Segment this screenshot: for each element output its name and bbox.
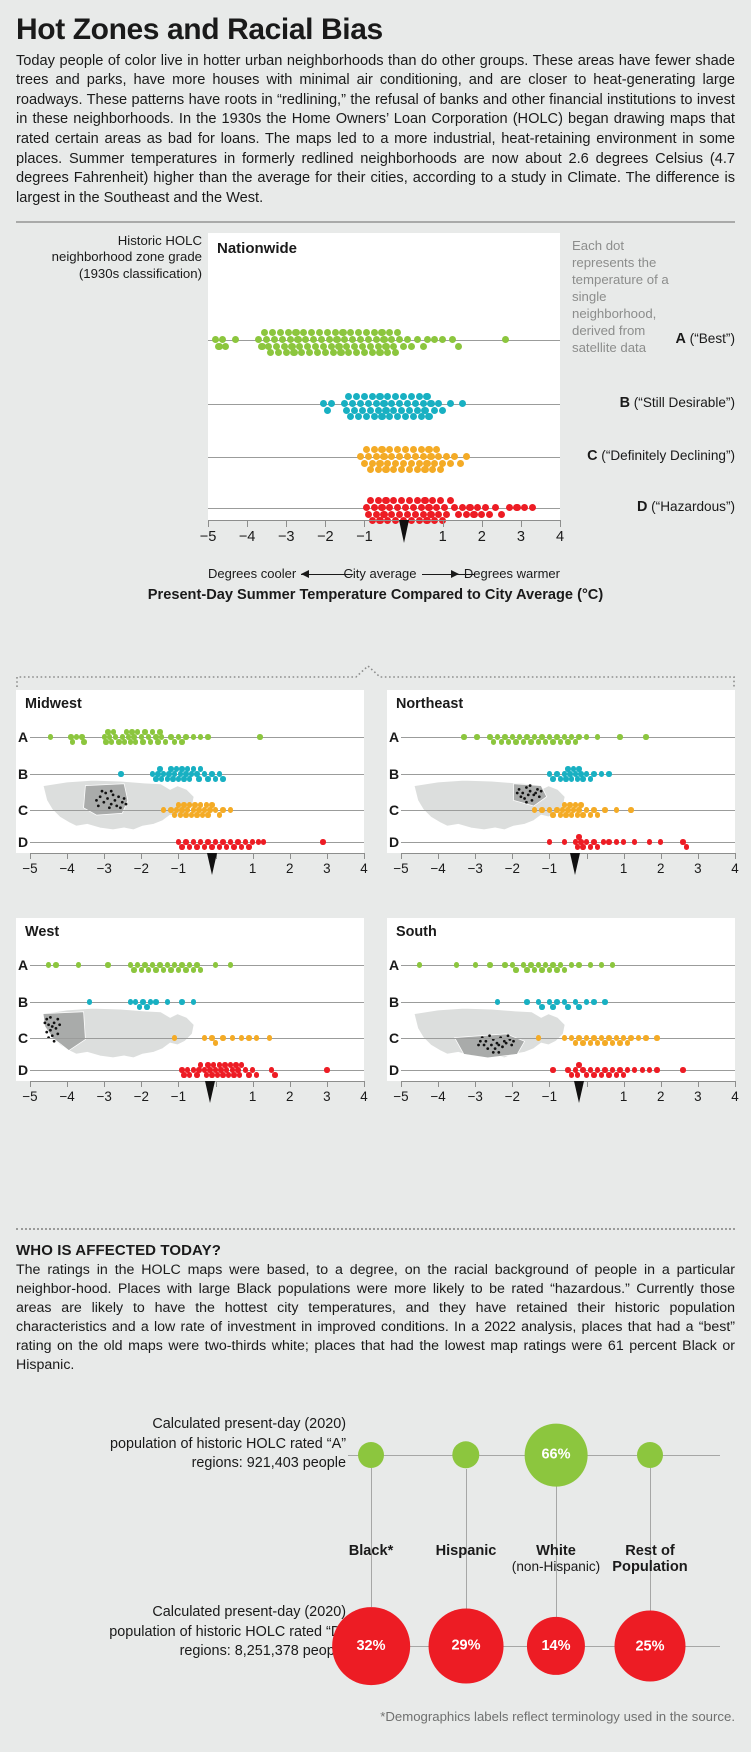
data-dot	[550, 1067, 555, 1072]
data-dot	[580, 844, 585, 849]
row-d-label: Calculated present-day (2020) population…	[16, 1603, 346, 1662]
region-swarm-d	[401, 690, 735, 853]
who-heading: WHO IS AFFECTED TODAY?	[16, 1242, 735, 1259]
axis-tick-label: −3	[468, 861, 483, 876]
axis-tick	[438, 1081, 439, 1087]
region-x-axis-midwest: −5−4−3−2−11234	[30, 853, 364, 883]
data-dot	[420, 343, 427, 350]
data-dot	[324, 407, 331, 414]
category-label-white: White(non-Hispanic)	[510, 1543, 602, 1575]
data-dot	[324, 1067, 329, 1072]
data-dot	[441, 504, 448, 511]
bubble-a-restofpopulation	[637, 1442, 663, 1468]
data-dot	[406, 466, 413, 473]
data-dot	[310, 336, 317, 343]
data-dot	[194, 844, 199, 849]
category-label-main: Black*	[325, 1543, 417, 1559]
data-dot	[345, 349, 352, 356]
data-dot	[382, 466, 389, 473]
data-dot	[449, 336, 456, 343]
data-dot	[621, 1072, 626, 1077]
data-dot	[231, 844, 236, 849]
region-x-axis-west: −5−4−3−2−11234	[30, 1081, 364, 1111]
data-dot	[392, 460, 399, 467]
axis-tick	[698, 853, 699, 859]
data-dot	[365, 453, 372, 460]
grade-letter: B	[620, 395, 630, 411]
axis-tick	[253, 1081, 254, 1087]
data-dot	[412, 400, 419, 407]
data-dot	[302, 336, 309, 343]
axis-tick	[482, 520, 483, 527]
data-dot	[298, 349, 305, 356]
axis-tick	[587, 1081, 588, 1087]
grade-label-d: D (“Hazardous”)	[549, 499, 735, 515]
axis-tick-label: −5	[22, 861, 37, 876]
data-dot	[451, 453, 458, 460]
category-stem-line	[650, 1468, 651, 1611]
data-dot	[654, 1067, 659, 1072]
data-dot	[451, 504, 458, 511]
data-dot	[562, 839, 567, 844]
data-dot	[396, 453, 403, 460]
axis-tick-label: −1	[356, 529, 373, 545]
region-grade-label-b: B	[18, 994, 28, 1010]
region-grade-label-d: D	[18, 1062, 28, 1078]
data-dot	[588, 844, 593, 849]
data-dot	[614, 1072, 619, 1077]
region-grade-label-c: C	[18, 802, 28, 818]
axis-tick	[735, 853, 736, 859]
data-dot	[459, 504, 466, 511]
axis-tick	[290, 1081, 291, 1087]
data-dot	[414, 466, 421, 473]
data-dot	[606, 1072, 611, 1077]
region-grade-label-b: B	[389, 766, 399, 782]
category-stem-line	[371, 1468, 372, 1607]
axis-direction-legend: Degrees cooler City average Degrees warm…	[208, 564, 560, 584]
category-stem-line	[466, 1469, 467, 1609]
data-dot	[498, 511, 505, 518]
data-dot	[474, 504, 481, 511]
category-label-main: White	[510, 1543, 602, 1559]
data-dot	[398, 466, 405, 473]
region-grade-label-b: B	[389, 994, 399, 1010]
data-dot	[400, 460, 407, 467]
data-dot	[378, 413, 385, 420]
data-dot	[373, 400, 380, 407]
axis-tick-label: −5	[22, 1089, 37, 1104]
data-dot	[410, 413, 417, 420]
axis-tick	[512, 853, 513, 859]
data-dot	[439, 460, 446, 467]
divider-who	[16, 1228, 735, 1230]
connector-bracket	[16, 665, 735, 687]
data-dot	[591, 1072, 596, 1077]
axis-tick	[364, 853, 365, 859]
axis-tick-label: 3	[323, 861, 330, 876]
data-dot	[357, 453, 364, 460]
nationwide-panel-title: Nationwide	[217, 240, 297, 257]
data-dot	[376, 349, 383, 356]
region-swarm-d	[30, 918, 364, 1081]
data-dot	[283, 349, 290, 356]
region-grade-label-c: C	[389, 802, 399, 818]
region-grade-label-a: A	[18, 957, 28, 973]
axis-line	[401, 1081, 735, 1082]
axis-tick	[661, 853, 662, 859]
data-dot	[373, 336, 380, 343]
axis-tick	[661, 1081, 662, 1087]
data-dot	[363, 413, 370, 420]
axis-tick-label: 1	[620, 1089, 627, 1104]
region-grade-label-a: A	[389, 729, 399, 745]
data-dot	[222, 343, 229, 350]
data-dot	[431, 407, 438, 414]
side-note: Each dot represents the temperature of a…	[572, 237, 672, 357]
grade-letter: A	[676, 331, 686, 347]
axis-tick-label: 1	[249, 1089, 256, 1104]
data-dot	[595, 844, 600, 849]
axis-tick	[624, 853, 625, 859]
axis-tick	[67, 1081, 68, 1087]
grade-label-b: B (“Still Desirable”)	[549, 395, 735, 411]
row-d-label-line-1: Calculated present-day (2020)	[16, 1603, 346, 1623]
grade-letter: C	[587, 448, 597, 464]
axis-tick	[364, 1081, 365, 1087]
data-dot	[355, 413, 362, 420]
data-dot	[267, 349, 274, 356]
region-panel-west: WestABCD−5−4−3−2−11234	[16, 918, 364, 1111]
data-dot	[367, 466, 374, 473]
data-dot	[386, 504, 393, 511]
axis-tick-label: −3	[468, 1089, 483, 1104]
axis-tick-label: −2	[134, 861, 149, 876]
nationwide-chart: Historic HOLC neighborhood zone grade (1…	[16, 233, 735, 583]
who-body: The ratings in the HOLC maps were based,…	[16, 1261, 735, 1375]
city-average-marker	[399, 520, 409, 543]
data-dot	[621, 839, 626, 844]
data-dot	[194, 1072, 199, 1077]
data-dot	[279, 336, 286, 343]
data-dot	[404, 400, 411, 407]
data-dot	[400, 343, 407, 350]
category-label-main: Hispanic	[420, 1543, 512, 1559]
data-dot	[418, 413, 425, 420]
axis-tick-label: 4	[360, 1089, 367, 1104]
region-title: West	[25, 924, 59, 940]
axis-tick-label: 3	[323, 1089, 330, 1104]
data-dot	[357, 336, 364, 343]
data-dot	[455, 511, 462, 518]
data-dot	[439, 336, 446, 343]
data-dot	[388, 336, 395, 343]
axis-tick-label: −4	[430, 861, 445, 876]
axis-tick	[67, 853, 68, 859]
data-dot	[437, 466, 444, 473]
data-dot	[388, 453, 395, 460]
data-dot	[390, 466, 397, 473]
who-section: WHO IS AFFECTED TODAY? The ratings in th…	[16, 1228, 735, 1375]
region-title: Midwest	[25, 696, 82, 712]
data-dot	[647, 839, 652, 844]
axis-tick	[364, 520, 365, 527]
data-dot	[209, 1072, 214, 1077]
data-dot	[425, 413, 432, 420]
data-dot	[412, 453, 419, 460]
grade-description: (“Hazardous”)	[647, 499, 735, 514]
data-dot	[290, 349, 297, 356]
bubble-d-restofpopulation: 25%	[615, 1611, 686, 1682]
axis-tick-label: 2	[657, 1089, 664, 1104]
axis-tick	[178, 853, 179, 859]
data-dot	[418, 504, 425, 511]
axis-tick	[512, 1081, 513, 1087]
bubble-d-white: 14%	[527, 1617, 585, 1675]
data-dot	[431, 336, 438, 343]
city-average-label: City average	[344, 566, 417, 581]
row-a-label-line-2: population of historic HOLC rated “A”	[16, 1435, 346, 1455]
data-dot	[246, 1072, 251, 1077]
region-grade-label-a: A	[389, 957, 399, 973]
data-dot	[349, 400, 356, 407]
data-dot	[204, 1072, 209, 1077]
data-dot	[361, 460, 368, 467]
axis-tick	[141, 853, 142, 859]
data-dot	[365, 400, 372, 407]
data-dot	[486, 511, 493, 518]
y-axis-header: Historic HOLC neighborhood zone grade (1…	[16, 233, 202, 284]
region-panel-northeast: NortheastABCD−5−4−3−2−11234	[387, 690, 735, 883]
axis-tick	[247, 520, 248, 527]
axis-line	[401, 853, 735, 854]
city-average-marker	[207, 853, 217, 875]
axis-tick	[286, 520, 287, 527]
data-dot	[250, 839, 255, 844]
axis-tick-label: −1	[542, 861, 557, 876]
left-arrow-icon	[301, 569, 338, 579]
y-header-line-1: Historic HOLC	[16, 233, 202, 250]
row-a-label: Calculated present-day (2020) population…	[16, 1415, 346, 1474]
axis-tick-label: 3	[694, 861, 701, 876]
city-average-marker	[570, 853, 580, 875]
region-panel-midwest: MidwestABCD−5−4−3−2−11234	[16, 690, 364, 883]
data-dot	[470, 511, 477, 518]
bubble-d-black: 32%	[332, 1607, 410, 1685]
data-dot	[420, 400, 427, 407]
data-dot	[427, 453, 434, 460]
data-dot	[357, 400, 364, 407]
region-swarm-d	[401, 918, 735, 1081]
data-dot	[320, 839, 325, 844]
axis-tick-label: 1	[249, 861, 256, 876]
axis-tick	[624, 1081, 625, 1087]
regional-panels: MidwestABCD−5−4−3−2−11234NortheastABCD−5…	[16, 690, 735, 1205]
data-dot	[547, 839, 552, 844]
data-dot	[529, 504, 536, 511]
axis-tick-label: 2	[286, 861, 293, 876]
city-average-marker	[205, 1081, 215, 1103]
data-dot	[375, 466, 382, 473]
axis-tick-label: −1	[542, 1089, 557, 1104]
axis-tick	[735, 1081, 736, 1087]
axis-tick	[30, 1081, 31, 1087]
data-dot	[287, 336, 294, 343]
data-dot	[181, 1072, 186, 1077]
region-x-axis-northeast: −5−4−3−2−11234	[401, 853, 735, 883]
data-dot	[684, 844, 689, 849]
data-dot	[427, 400, 434, 407]
axis-tick-label: 2	[478, 529, 486, 545]
data-dot	[246, 844, 251, 849]
region-x-axis-south: −5−4−3−2−11234	[401, 1081, 735, 1111]
degrees-warmer-label: Degrees warmer	[464, 566, 560, 581]
axis-tick	[253, 853, 254, 859]
region-panel-south: SouthABCD−5−4−3−2−11234	[387, 918, 735, 1111]
axis-tick-label: −1	[171, 861, 186, 876]
data-dot	[521, 504, 528, 511]
axis-tick-label: 4	[556, 529, 564, 545]
grade-letter: D	[637, 499, 647, 515]
data-dot	[209, 844, 214, 849]
axis-tick-label: −5	[200, 529, 217, 545]
row-d-label-line-2: population of historic HOLC rated “D”	[16, 1623, 346, 1643]
data-dot	[384, 460, 391, 467]
data-dot	[388, 400, 395, 407]
axis-tick	[216, 1081, 217, 1087]
y-header-line-3: (1930s classification)	[16, 266, 202, 283]
region-grade-label-d: D	[18, 834, 28, 850]
data-dot	[384, 349, 391, 356]
data-dot	[435, 400, 442, 407]
data-dot	[396, 400, 403, 407]
bubble-a-hispanic	[452, 1441, 479, 1468]
city-average-marker	[574, 1081, 584, 1103]
data-dot	[443, 453, 450, 460]
axis-tick-label: 4	[731, 1089, 738, 1104]
data-dot	[447, 400, 454, 407]
data-dot	[625, 1067, 630, 1072]
data-dot	[680, 1067, 685, 1072]
grade-label-c: C (“Definitely Declining”)	[549, 448, 735, 464]
data-dot	[429, 466, 436, 473]
axis-tick	[549, 853, 550, 859]
data-dot	[433, 504, 440, 511]
data-dot	[431, 460, 438, 467]
axis-tick-label: 1	[620, 861, 627, 876]
data-dot	[347, 413, 354, 420]
data-dot	[306, 349, 313, 356]
axis-tick-label: −4	[59, 1089, 74, 1104]
data-dot	[294, 336, 301, 343]
row-a-label-line-3: regions: 921,403 people	[16, 1454, 346, 1474]
data-dot	[363, 504, 370, 511]
data-dot	[463, 453, 470, 460]
axis-tick	[438, 853, 439, 859]
data-dot	[439, 407, 446, 414]
axis-tick	[327, 1081, 328, 1087]
row-d-label-line-3: regions: 8,251,378 people	[16, 1642, 346, 1662]
y-header-line-2: neighborhood zone grade	[16, 249, 202, 266]
axis-tick	[290, 853, 291, 859]
region-title: Northeast	[396, 696, 463, 712]
region-plot-west: WestABCD	[16, 918, 364, 1081]
x-axis-title: Present-Day Summer Temperature Compared …	[0, 587, 751, 603]
data-dot	[320, 400, 327, 407]
axis-tick-label: −4	[59, 861, 74, 876]
axis-tick-label: −4	[239, 529, 256, 545]
region-plot-northeast: NortheastABCD	[387, 690, 735, 853]
data-dot	[394, 504, 401, 511]
divider-top	[16, 221, 735, 223]
axis-tick	[475, 853, 476, 859]
axis-tick-label: −3	[278, 529, 295, 545]
data-dot	[402, 504, 409, 511]
data-dot	[179, 844, 184, 849]
axis-tick-label: 2	[286, 1089, 293, 1104]
data-dot	[506, 504, 513, 511]
data-dot	[263, 336, 270, 343]
data-dot	[459, 400, 466, 407]
axis-tick-label: 3	[517, 529, 525, 545]
data-dot	[408, 460, 415, 467]
axis-tick	[698, 1081, 699, 1087]
data-dot	[232, 336, 239, 343]
category-label-hispanic: Hispanic	[420, 1543, 512, 1559]
data-dot	[275, 349, 282, 356]
axis-tick	[443, 520, 444, 527]
grade-description: (“Still Desirable”)	[630, 395, 735, 410]
data-dot	[404, 336, 411, 343]
data-dot	[402, 413, 409, 420]
data-dot	[337, 349, 344, 356]
data-dot	[455, 343, 462, 350]
data-dot	[237, 1072, 242, 1077]
axis-tick	[401, 853, 402, 859]
axis-line	[30, 853, 364, 854]
bubble-a-white: 66%	[525, 1424, 588, 1487]
region-grade-label-d: D	[389, 1062, 399, 1078]
axis-tick	[587, 853, 588, 859]
data-dot	[421, 466, 428, 473]
axis-tick-label: −2	[505, 1089, 520, 1104]
data-dot	[202, 844, 207, 849]
data-dot	[394, 413, 401, 420]
data-dot	[231, 1072, 236, 1077]
row-a-label-line-1: Calculated present-day (2020)	[16, 1415, 346, 1435]
data-dot	[575, 1072, 580, 1077]
data-dot	[606, 839, 611, 844]
region-plot-south: SouthABCD	[387, 918, 735, 1081]
axis-tick-label: −5	[393, 1089, 408, 1104]
axis-line	[208, 520, 560, 521]
category-label-restofpopulation: Rest of Population	[604, 1543, 696, 1576]
data-dot	[261, 839, 266, 844]
data-dot	[599, 1072, 604, 1077]
data-dot	[330, 349, 337, 356]
data-dot	[414, 336, 421, 343]
axis-tick-label: −3	[97, 1089, 112, 1104]
data-dot	[333, 336, 340, 343]
data-dot	[371, 413, 378, 420]
data-dot	[513, 504, 520, 511]
data-dot	[492, 504, 499, 511]
axis-tick-label: −2	[134, 1089, 149, 1104]
data-dot	[361, 349, 368, 356]
region-grade-label-c: C	[18, 1030, 28, 1046]
data-dot	[584, 1072, 589, 1077]
axis-tick	[401, 1081, 402, 1087]
